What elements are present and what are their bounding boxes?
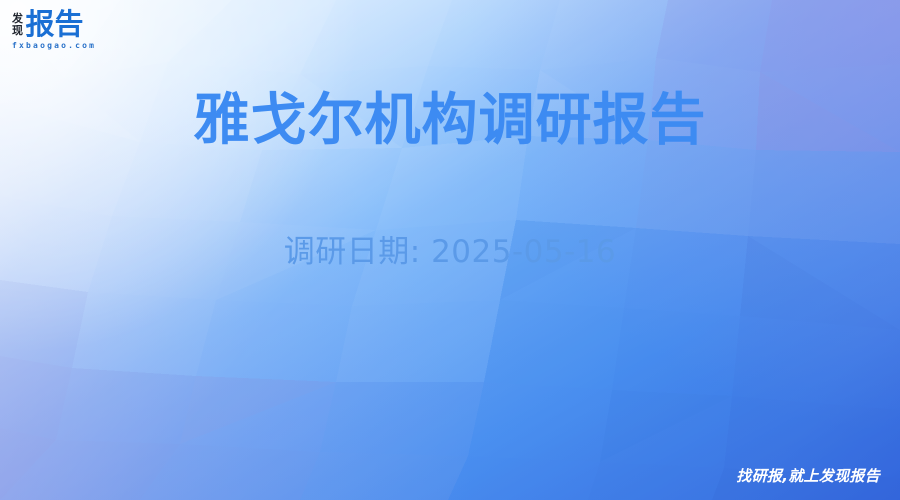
logo-url: fxbaogao.com: [12, 41, 164, 51]
title-block: 雅戈尔机构调研报告: [0, 86, 900, 156]
logo-char-xian: 现: [12, 25, 23, 37]
page-title: 雅戈尔机构调研报告: [0, 86, 900, 156]
footer-watermark: 找研报,就上发现报告: [736, 466, 880, 486]
report-cover-slide: 发 现 报告 fxbaogao.com 雅戈尔机构调研报告 调研日期: 2025…: [0, 0, 900, 500]
logo-wordmark: 报告: [26, 9, 84, 39]
logo-stacked-characters: 发 现: [12, 13, 23, 39]
report-date-subtitle: 调研日期: 2025-05-16: [0, 232, 900, 272]
logo-wordmark-row: 发 现 报告: [12, 9, 164, 39]
fxbaogao-logo[interactable]: 发 现 报告 fxbaogao.com: [12, 9, 164, 57]
